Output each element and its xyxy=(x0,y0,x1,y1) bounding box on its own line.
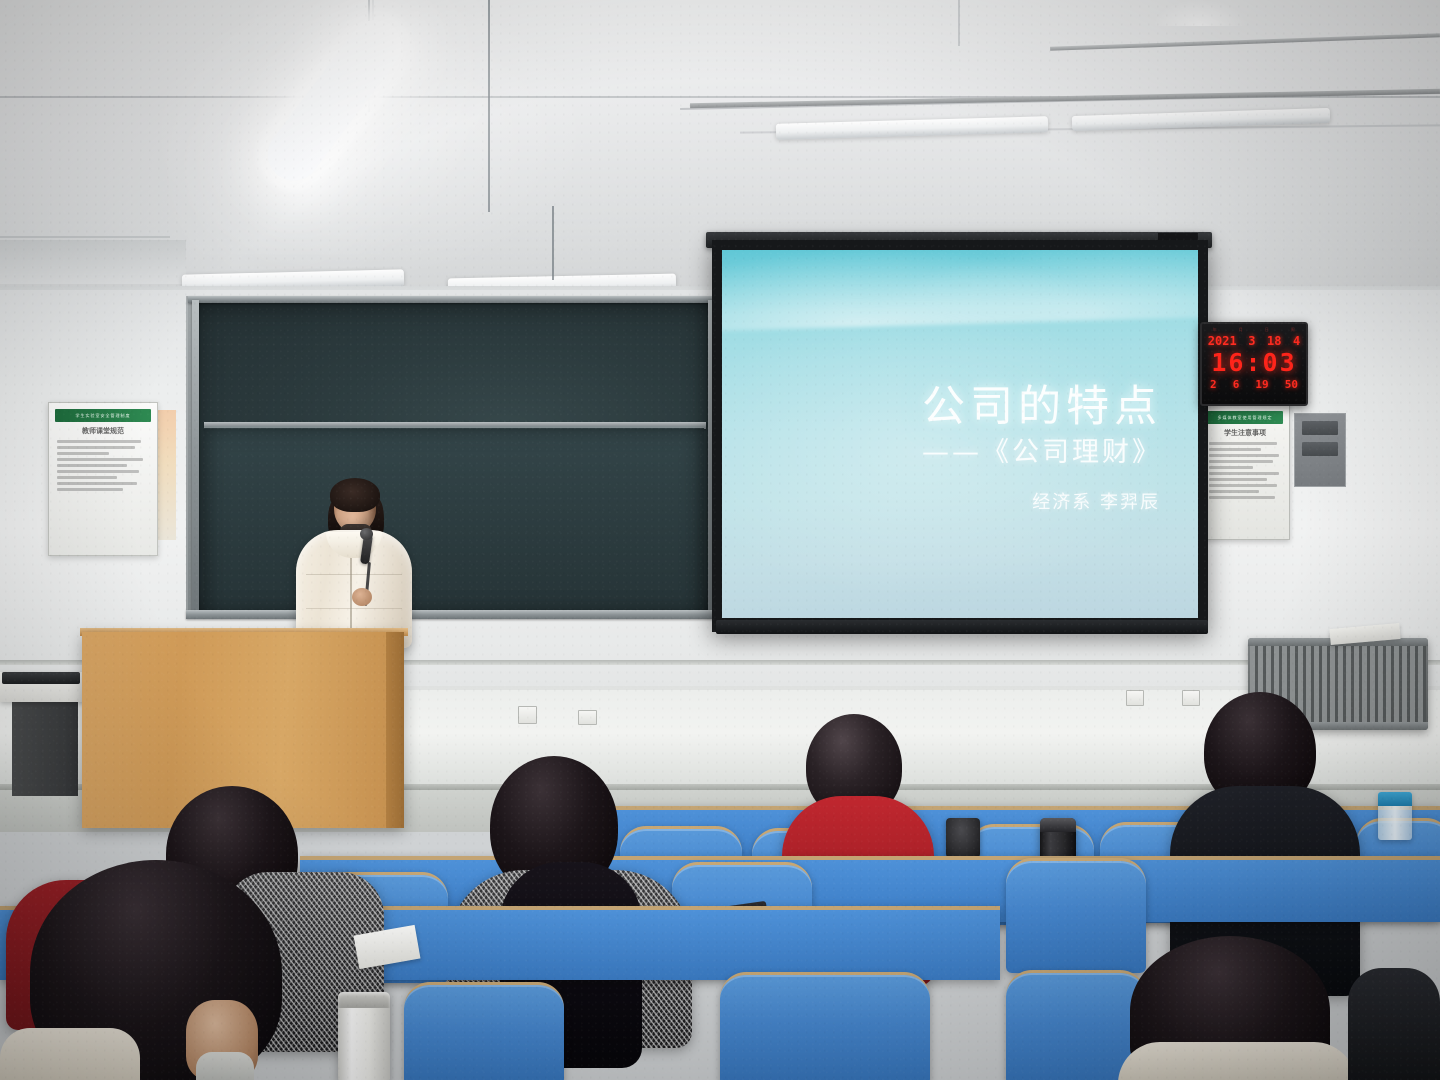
clock-month: 3 xyxy=(1248,334,1255,348)
seat[interactable] xyxy=(1006,858,1146,973)
clock-time: 16:03 xyxy=(1202,348,1306,377)
clock-day: 18 xyxy=(1267,334,1281,348)
blackboard-chalk-tray xyxy=(186,610,720,619)
power-outlet[interactable] xyxy=(1182,690,1200,706)
microphone-head xyxy=(360,528,373,540)
led-wall-clock: 年 月 日 周 2021 3 18 4 16:03 2 6 19 50 xyxy=(1200,322,1308,406)
blackboard-rail-top xyxy=(188,296,718,303)
light-suspension-rod xyxy=(552,206,554,280)
screen-housing-cap xyxy=(1158,233,1198,240)
slide-subtitle: ——《公司理财》 xyxy=(922,430,1162,469)
clock-label-month: 月 xyxy=(1239,327,1244,333)
audience-member-near-right xyxy=(1348,968,1440,1080)
poster-title: 教师课堂规范 xyxy=(49,426,157,436)
projector-screen-weight-bar xyxy=(716,620,1208,634)
presenter-hand xyxy=(352,588,372,606)
water-bottle xyxy=(1378,792,1412,840)
black-cup xyxy=(946,818,980,858)
ceiling-seam xyxy=(0,236,170,238)
seat[interactable] xyxy=(720,972,930,1080)
projector-screen[interactable]: 公司的特点 ——《公司理财》 经济系 李羿辰 xyxy=(722,250,1198,618)
clock-date-row: 2021 3 18 4 xyxy=(1202,334,1306,348)
poster-title: 学生注意事项 xyxy=(1201,428,1289,438)
side-desk-leg xyxy=(12,700,78,796)
classroom-photo: 学生实验室安全管理制度 教师课堂规范 多媒体教室使用管理规定 学生注意事项 xyxy=(0,0,1440,1080)
slide-author: 经济系 李羿辰 xyxy=(1032,488,1160,514)
seat[interactable] xyxy=(404,982,564,1080)
clock-year: 2021 xyxy=(1208,334,1237,348)
vent-slot xyxy=(1302,442,1338,456)
right-wall-poster: 多媒体教室使用管理规定 学生注意事项 xyxy=(1200,400,1290,540)
keyboard[interactable] xyxy=(2,672,80,684)
white-thermos xyxy=(338,992,390,1080)
thermos-cap xyxy=(338,992,390,1008)
clock-aux-1: 2 xyxy=(1210,378,1217,391)
poster-banner: 多媒体教室使用管理规定 xyxy=(1207,411,1283,424)
clock-aux-3: 19 xyxy=(1255,378,1268,391)
ceiling-edge-left xyxy=(0,240,186,284)
clock-label-year: 年 xyxy=(1213,327,1218,333)
clock-aux-4: 50 xyxy=(1285,378,1298,391)
clock-weekday: 4 xyxy=(1293,334,1300,348)
podium-side xyxy=(386,632,404,828)
power-outlet[interactable] xyxy=(578,710,597,725)
audience-member-far-right-shoulder xyxy=(1118,1042,1356,1080)
slide-title: 公司的特点 xyxy=(922,372,1162,434)
clock-aux-2: 6 xyxy=(1233,378,1240,391)
clock-label-weekday: 周 xyxy=(1291,327,1296,333)
clock-secondary-row: 2 6 19 50 xyxy=(1202,378,1306,391)
wall-vent-panel xyxy=(1294,413,1346,487)
ceiling-light-glow-top xyxy=(1154,0,1246,26)
blackboard-sliding-panel xyxy=(204,426,704,616)
audience-member-bottom-left-shoulder xyxy=(0,1028,140,1080)
power-outlet[interactable] xyxy=(518,706,537,724)
thermos-cap xyxy=(1040,818,1076,832)
ceiling-seam xyxy=(958,0,960,46)
presenter-hair-top xyxy=(330,478,380,512)
face-mask xyxy=(196,1052,254,1080)
vent-slot xyxy=(1302,421,1338,435)
blackboard-rail-left xyxy=(192,300,199,616)
poster-banner: 学生实验室安全管理制度 xyxy=(55,409,151,422)
clock-label-day: 日 xyxy=(1265,327,1270,333)
slide-wave-graphic xyxy=(722,250,1198,331)
left-wall-poster: 学生实验室安全管理制度 教师课堂规范 xyxy=(48,402,158,556)
clock-header: 年 月 日 周 xyxy=(1202,327,1306,333)
bottle-cap xyxy=(1378,792,1412,806)
power-outlet[interactable] xyxy=(1126,690,1144,706)
